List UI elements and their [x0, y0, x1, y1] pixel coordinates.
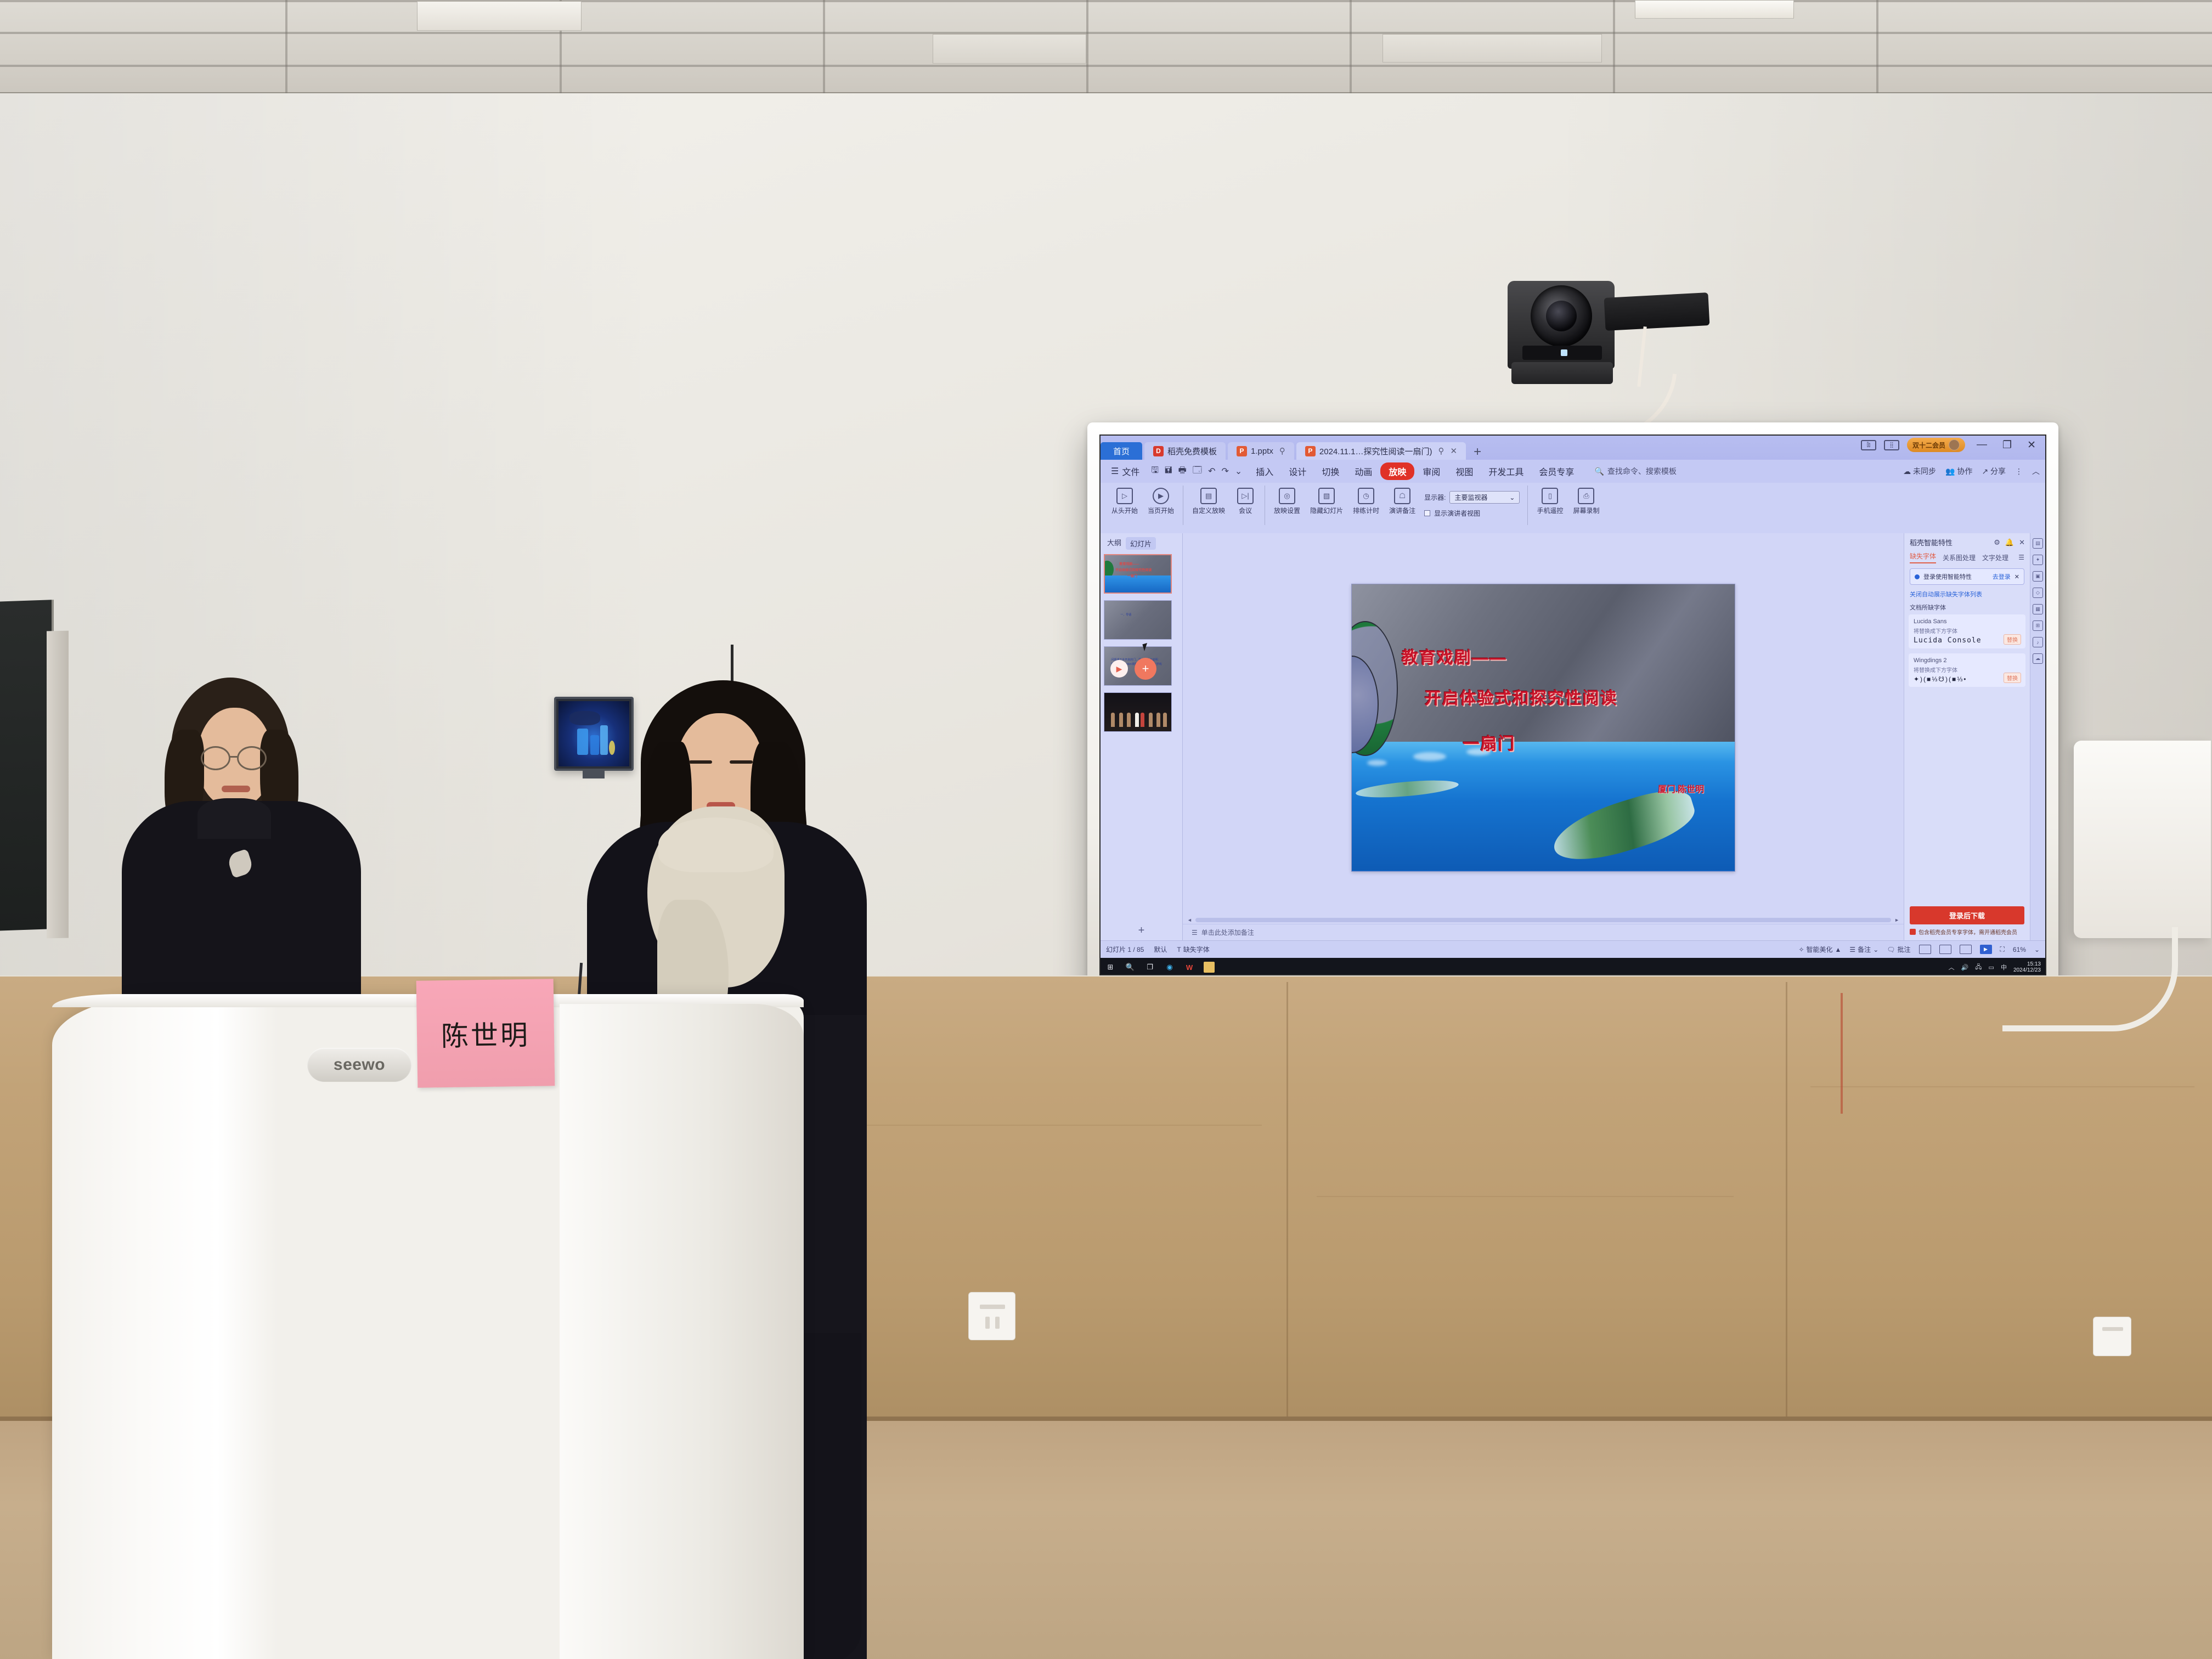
podium-right-body [560, 1004, 804, 1659]
login-banner-text: 登录使用智能特性 [1923, 572, 1972, 581]
panel-title: 稻壳智能特性 [1910, 537, 1953, 548]
login-banner[interactable]: 登录使用智能特性 去登录 ✕ [1910, 568, 2024, 585]
notes-placeholder: 单击此处添加备注 [1201, 928, 1254, 937]
tab-label: 稻壳免费模板 [1167, 445, 1217, 457]
interactive-flat-panel: seewo 首页 D 稻壳免费模板 P 1.pptx ⚲ P 2024.11.1… [1087, 422, 2058, 998]
slideshow-icon[interactable]: ▶ [1980, 945, 1992, 954]
button-meeting[interactable]: ▷| 会议 [1231, 486, 1260, 517]
button-hide-slide[interactable]: ▧ 隐藏幻灯片 [1306, 486, 1347, 517]
button-speaker-notes[interactable]: ☖ 演讲备注 [1385, 486, 1420, 517]
rb-label: 演讲备注 [1389, 506, 1415, 515]
status-bar: 幻灯片 1 / 85 默认 T 缺失字体 ✧ 智能美化 ▲ ☰ 备注 ⌄ [1101, 940, 2045, 958]
tab-pin-icon[interactable]: ⚲ [1279, 446, 1285, 456]
divider [1183, 486, 1183, 525]
sync-status[interactable]: ☁ 未同步 [1903, 466, 1936, 477]
button-rehearse-timing[interactable]: ◷ 排练计时 [1348, 486, 1384, 517]
tab-review[interactable]: 审阅 [1415, 462, 1447, 480]
comments-label: 批注 [1897, 945, 1910, 954]
tab-developer-tools[interactable]: 开发工具 [1481, 462, 1531, 480]
tab-pin-icon[interactable]: ⚲ [1438, 446, 1444, 456]
wall-outlet-left [968, 1292, 1015, 1340]
print-preview-icon[interactable]: 🗔 [1193, 464, 1202, 479]
play-from-current-icon: ▶ [1153, 488, 1169, 504]
thumb-title-line2: 开启体验式和探究性阅读 [1115, 567, 1152, 572]
thumbnail-slide-4[interactable] [1104, 692, 1172, 732]
redo-icon[interactable]: ↷ [1221, 466, 1228, 477]
ribbon-tab-strip: ☰ 文件 🖫 🖬 🖶 🗔 ↶ ↷ ⌄ 插入 设计 切换 动画 放映 审阅 [1101, 460, 2045, 483]
monitor-group: 显示器: 主要监视器 ⌄ 显示演讲者视图 [1421, 486, 1523, 518]
presenter-view-checkbox[interactable]: 显示演讲者视图 [1424, 509, 1520, 518]
slide-title-line-3: 一扇门 [1463, 730, 1515, 754]
vip-label: 双十二会员 [1912, 441, 1945, 450]
thumbnail-list[interactable]: 教育戏剧—— 开启体验式和探究性阅读 一扇门 一、导语 问题通下乡开启的门、我想… [1101, 552, 1182, 923]
wall-monitor [554, 697, 634, 771]
slide-editor[interactable]: 教育戏剧—— 开启体验式和探究性阅读 一扇门 厦门.陈世明 [1351, 584, 1735, 872]
show-hidden-icons-icon[interactable]: ︿ [1949, 963, 1955, 972]
share-button[interactable]: ↗ 分享 [1982, 466, 2006, 477]
thumbnail-add-slide-button[interactable]: + [1135, 658, 1156, 680]
titlebar-right-controls: ⫿⫾ ⣿ 双十二会员 — ❐ ✕ [1861, 438, 2040, 452]
monitor-value: 主要监视器 [1454, 493, 1487, 502]
tab-docer-templates[interactable]: D 稻壳免费模板 [1144, 442, 1226, 460]
play-from-start-icon: ▷ [1116, 488, 1133, 504]
work-area: 大纲 幻灯片 教育戏剧—— 开启体验式和探究性阅读 一扇门 [1101, 533, 2045, 940]
scroll-right-icon[interactable]: ► [1894, 917, 1899, 923]
beautify-icon: ✧ [1798, 946, 1804, 953]
collapse-ribbon-icon[interactable]: ︿ [2032, 466, 2040, 477]
smart-beautify-button[interactable]: ✧ 智能美化 ▲ [1798, 945, 1841, 954]
tab-label: 1.pptx [1251, 447, 1273, 456]
thumbnail-tabs: 大纲 幻灯片 [1101, 533, 1182, 552]
shape-icon[interactable]: ◇ [2033, 588, 2043, 598]
ppt-icon: P [1305, 446, 1316, 456]
camera-lens-inner [1546, 301, 1577, 331]
tab-slideshow[interactable]: 放映 [1380, 462, 1414, 480]
monitor-select[interactable]: 主要监视器 ⌄ [1449, 491, 1520, 504]
notes-label: 备注 [1858, 945, 1871, 954]
horizontal-scrollbar[interactable]: ◄ ► [1183, 916, 1904, 924]
close-icon[interactable]: ✕ [2015, 573, 2019, 580]
wall-outlet-right [2093, 1317, 2131, 1356]
name-card-text: 陈世明 [441, 1013, 531, 1053]
bell-icon[interactable]: 🔔 [2005, 538, 2014, 547]
volume-icon[interactable]: 🔊 [1961, 964, 1969, 971]
normal-view-icon[interactable] [1919, 945, 1931, 954]
chevron-down-icon: ⌄ [1509, 494, 1515, 501]
divider [1265, 486, 1265, 525]
rb-label: 隐藏幻灯片 [1310, 506, 1343, 515]
thumbnail-slide-2[interactable]: 一、导语 [1104, 600, 1172, 640]
notes-pane[interactable]: ☰ 单击此处添加备注 [1183, 924, 1904, 940]
file-menu-button[interactable]: ☰ 文件 [1106, 465, 1144, 478]
hide-slide-icon: ▧ [1318, 488, 1335, 504]
slide-author: 厦门.陈世明 [1658, 782, 1704, 795]
tab-diagram-processing[interactable]: 关系图处理 [1943, 553, 1976, 562]
slide-canvas-wrapper: 教育戏剧—— 开启体验式和探究性阅读 一扇门 厦门.陈世明 ◄ ► ☰ 单击此处 [1183, 533, 1904, 940]
media-icon[interactable]: ♪ [2033, 637, 2043, 647]
chevron-up-icon: ▲ [1835, 946, 1842, 953]
display-screen[interactable]: 首页 D 稻壳免费模板 P 1.pptx ⚲ P 2024.11.1…探究性阅读… [1099, 435, 2046, 975]
wps-icon[interactable]: W [1184, 962, 1195, 973]
docer-smart-panel: 稻壳智能特性 ⚙ 🔔 ✕ 缺失字体 关系图处理 文字处理 ☰ [1904, 533, 2030, 940]
right-wall-fixture [2074, 741, 2211, 938]
slide-canvas-area[interactable]: 教育戏剧—— 开启体验式和探究性阅读 一扇门 厦门.陈世明 [1183, 533, 1904, 916]
new-tab-button[interactable]: + [1474, 444, 1481, 460]
replace-button[interactable]: 替换 [2004, 634, 2021, 645]
tab-design[interactable]: 设计 [1282, 462, 1313, 480]
print-icon[interactable]: 🖶 [1178, 464, 1187, 479]
settings-icon[interactable]: ⚙ [1994, 538, 2000, 547]
thumb-text: 一、导语 [1120, 613, 1131, 617]
search-placeholder: 查找命令、搜索模板 [1607, 466, 1677, 477]
thumb-title-line3: 一扇门 [1127, 573, 1137, 578]
missing-fonts-section-label: 文档所缺字体 [1904, 602, 2030, 614]
save-icon[interactable]: 🖫 [1151, 464, 1159, 479]
slide-title-line-1: 教育戏剧—— [1402, 644, 1507, 668]
meeting-icon: ▷| [1237, 488, 1254, 504]
tab-label: 2024.11.1…探究性阅读一扇门) [1319, 445, 1432, 457]
rb-label: 当页开始 [1148, 506, 1174, 515]
missing-font-card-1: Lucida Sans 将替换成下方字体 Lucida Console 替换 [1909, 614, 2025, 648]
wall-monitor-stand [583, 771, 605, 778]
screen-record-icon: ⎙ [1578, 488, 1594, 504]
tab-home[interactable]: 首页 [1101, 442, 1142, 460]
scroll-left-icon[interactable]: ◄ [1187, 917, 1192, 923]
rb-label: 会议 [1239, 506, 1252, 515]
rb-label: 自定义放映 [1192, 506, 1225, 515]
ribbon-body: ▷ 从头开始 ▶ 当页开始 ▤ 自定义放映 ▷| 会议 ◎ [1101, 483, 2045, 533]
slide-counter: 幻灯片 1 / 85 [1106, 945, 1144, 954]
close-icon[interactable]: ✕ [2019, 538, 2025, 547]
login-link[interactable]: 去登录 [1993, 572, 2011, 581]
rehearse-timing-icon: ◷ [1358, 488, 1374, 504]
thumb-title-line1: 教育戏剧—— [1119, 561, 1139, 566]
tab-insert[interactable]: 插入 [1249, 462, 1280, 480]
design-icon[interactable]: ✦ [2033, 555, 2043, 565]
panel-header: 稻壳智能特性 ⚙ 🔔 ✕ [1904, 533, 2030, 550]
close-icon[interactable]: ✕ [1451, 446, 1458, 456]
ppt-icon: P [1237, 446, 1247, 456]
image-icon[interactable]: ▣ [2033, 571, 2043, 582]
button-phone-remote[interactable]: ▯ 手机遥控 [1532, 486, 1567, 517]
search-icon: 🔍 [1594, 467, 1604, 476]
left-panel-edge [47, 631, 69, 939]
start-icon[interactable]: ⊞ [1105, 962, 1116, 973]
font-name: Lucida Sans [1914, 618, 2021, 625]
monitor-select-row[interactable]: 显示器: 主要监视器 ⌄ [1424, 491, 1520, 504]
file-menu-label: 文件 [1122, 465, 1139, 478]
hamburger-icon[interactable]: ☰ [2018, 554, 2024, 561]
missing-font-status[interactable]: T 缺失字体 [1177, 945, 1209, 954]
network-icon[interactable]: 🖧 [1975, 962, 1982, 973]
sensor-bar [1604, 292, 1710, 331]
replace-button[interactable]: 替换 [2004, 673, 2021, 683]
tab-active-presentation[interactable]: P 2024.11.1…探究性阅读一扇门) ⚲ ✕ [1296, 442, 1466, 460]
split-screen-icon[interactable]: ⫿⫾ [1861, 440, 1876, 450]
speaker-notes-icon: ☖ [1394, 488, 1410, 504]
tab-transition[interactable]: 切换 [1314, 462, 1346, 480]
edge-icon[interactable]: ◉ [1164, 962, 1175, 973]
classroom-scene: seewo 首页 D 稻壳免费模板 P 1.pptx ⚲ P 2024.11.1… [0, 0, 2212, 1659]
tab-text-processing[interactable]: 文字处理 [1982, 553, 2008, 562]
reading-view-icon[interactable] [1960, 945, 1972, 954]
wall-monitor-screen [558, 701, 629, 766]
chevron-down-icon: ⌄ [1873, 946, 1878, 953]
file-explorer-icon[interactable] [1204, 962, 1215, 973]
maximize-button[interactable]: ❐ [1999, 439, 2016, 452]
thumbnail-play-button[interactable]: ▶ [1110, 660, 1128, 678]
rb-label: 从头开始 [1111, 506, 1138, 515]
tab-slides[interactable]: 幻灯片 [1126, 537, 1156, 550]
rb-label: 放映设置 [1274, 506, 1300, 515]
show-settings-icon: ◎ [1279, 488, 1295, 504]
phone-remote-icon: ▯ [1542, 488, 1558, 504]
scroll-track[interactable] [1195, 918, 1891, 922]
font-note: 将替换成下方字体 [1914, 627, 2021, 635]
tab-1-pptx[interactable]: P 1.pptx ⚲ [1228, 442, 1294, 460]
cloud-icon[interactable]: ☁ [2033, 653, 2043, 664]
button-custom-show[interactable]: ▤ 自定义放映 [1188, 486, 1229, 517]
download-after-login-button[interactable]: 登录后下载 [1910, 906, 2024, 924]
save-as-icon[interactable]: 🖬 [1165, 464, 1172, 479]
checkbox-icon [1424, 510, 1430, 516]
slide-title-line-2: 开启体验式和探究性阅读 [1425, 685, 1618, 709]
panel-header-icons: ⚙ 🔔 ✕ [1994, 538, 2025, 547]
tab-missing-fonts[interactable]: 缺失字体 [1910, 551, 1936, 563]
rb-label: 屏幕录制 [1573, 506, 1599, 515]
beautify-label: 智能美化 [1807, 945, 1833, 954]
button-screen-record[interactable]: ⎙ 屏幕录制 [1568, 486, 1604, 517]
comments-toggle-button[interactable]: 🗨 批注 [1887, 945, 1910, 954]
tab-member-exclusive[interactable]: 会员专享 [1532, 462, 1581, 480]
red-accent-line [1841, 993, 1843, 1114]
battery-icon[interactable]: ▭ [1989, 964, 1994, 971]
rb-label: 排练计时 [1353, 506, 1379, 515]
thumbnail-slide-1[interactable]: 教育戏剧—— 开启体验式和探究性阅读 一扇门 [1104, 554, 1172, 594]
missing-font-label: 缺失字体 [1183, 945, 1210, 954]
button-show-settings[interactable]: ◎ 放映设置 [1269, 486, 1305, 517]
quick-access-toolbar: 🖫 🖬 🖶 🗔 ↶ ↷ ⌄ [1145, 464, 1248, 479]
missing-font-card-2: Wingdings 2 将替换成下方字体 ✦)(■⅓☋)(■⅓• 替换 [1909, 653, 2025, 687]
ceiling-grid [0, 0, 2212, 96]
search-icon[interactable]: 🔍 [1125, 962, 1136, 973]
tab-outline[interactable]: 大纲 [1107, 537, 1121, 550]
more-icon[interactable]: ⋮ [2015, 467, 2023, 476]
close-button[interactable]: ✕ [2023, 439, 2040, 452]
info-icon [1915, 574, 1920, 579]
windows-taskbar: ⊞ 🔍 ❐ ◉ W ︿ 🔊 🖧 ▭ 中 15:13 2024/12/23 [1101, 958, 2045, 975]
collaborate-button[interactable]: 👥 协作 [1945, 466, 1972, 477]
theme-label[interactable]: 默认 [1154, 945, 1167, 954]
undo-icon[interactable]: ↶ [1208, 466, 1215, 477]
add-slide-footer-button[interactable]: + [1101, 923, 1182, 940]
chart-icon[interactable]: ▦ [2033, 604, 2043, 614]
rb-label: 手机遥控 [1537, 506, 1563, 515]
vip-badge[interactable]: 双十二会员 [1907, 438, 1965, 452]
left-blackboard [0, 600, 54, 931]
presenter-view-label: 显示演讲者视图 [1434, 509, 1480, 518]
hamburger-icon: ☰ [1111, 466, 1119, 477]
slide-thumbnail-panel: 大纲 幻灯片 教育戏剧—— 开启体验式和探究性阅读 一扇门 [1101, 533, 1183, 940]
task-view-icon[interactable]: ❐ [1144, 962, 1155, 973]
podium-brand-logo: seewo [307, 1048, 411, 1082]
chevron-down-icon[interactable]: ⌄ [1235, 466, 1242, 477]
panel-tabs: 缺失字体 关系图处理 文字处理 ☰ [1904, 550, 2030, 563]
right-tool-rail: ▤ ✦ ▣ ◇ ▦ ⊞ ♪ ☁ [2030, 533, 2045, 940]
sidebar-icon[interactable]: ▤ [2033, 538, 2043, 549]
font-name: Wingdings 2 [1914, 657, 2021, 664]
tab-view[interactable]: 视图 [1448, 462, 1480, 480]
ribbon-right-actions: ☁ 未同步 👥 协作 ↗ 分享 ⋮ ︿ [1903, 466, 2040, 477]
search-box[interactable]: 🔍 查找命令、搜索模板 [1594, 466, 1676, 477]
name-card: 陈世明 [416, 979, 555, 1087]
button-play-from-start[interactable]: ▷ 从头开始 [1107, 486, 1142, 517]
avatar[interactable] [1949, 439, 1960, 450]
right-fixture-arm [2002, 927, 2178, 1031]
slide-sorter-icon[interactable] [1939, 945, 1951, 954]
table-icon[interactable]: ⊞ [2033, 620, 2043, 631]
docer-icon: D [1153, 446, 1164, 456]
notes-toggle-button[interactable]: ☰ 备注 ⌄ [1849, 945, 1878, 954]
tab-animation[interactable]: 动画 [1347, 462, 1379, 480]
app-grid-icon[interactable]: ⣿ [1884, 440, 1899, 450]
camera-led-icon [1561, 349, 1567, 356]
custom-show-icon: ▤ [1200, 488, 1217, 504]
ceiling [0, 0, 2212, 96]
minimize-button[interactable]: — [1973, 439, 1991, 451]
notes-icon: ☰ [1849, 946, 1855, 953]
comment-icon: 🗨 [1887, 946, 1895, 953]
close-autolist-link[interactable]: 关闭自动展示缺失字体列表 [1904, 590, 2030, 602]
docer-vip-icon [1910, 929, 1916, 935]
notes-icon: ☰ [1192, 929, 1198, 936]
divider [1527, 486, 1528, 525]
button-play-from-current[interactable]: ▶ 当页开始 [1143, 486, 1178, 517]
wps-titlebar: 首页 D 稻壳免费模板 P 1.pptx ⚲ P 2024.11.1…探究性阅读… [1101, 436, 2045, 460]
font-icon: T [1177, 946, 1181, 953]
monitor-label: 显示器: [1424, 493, 1446, 502]
